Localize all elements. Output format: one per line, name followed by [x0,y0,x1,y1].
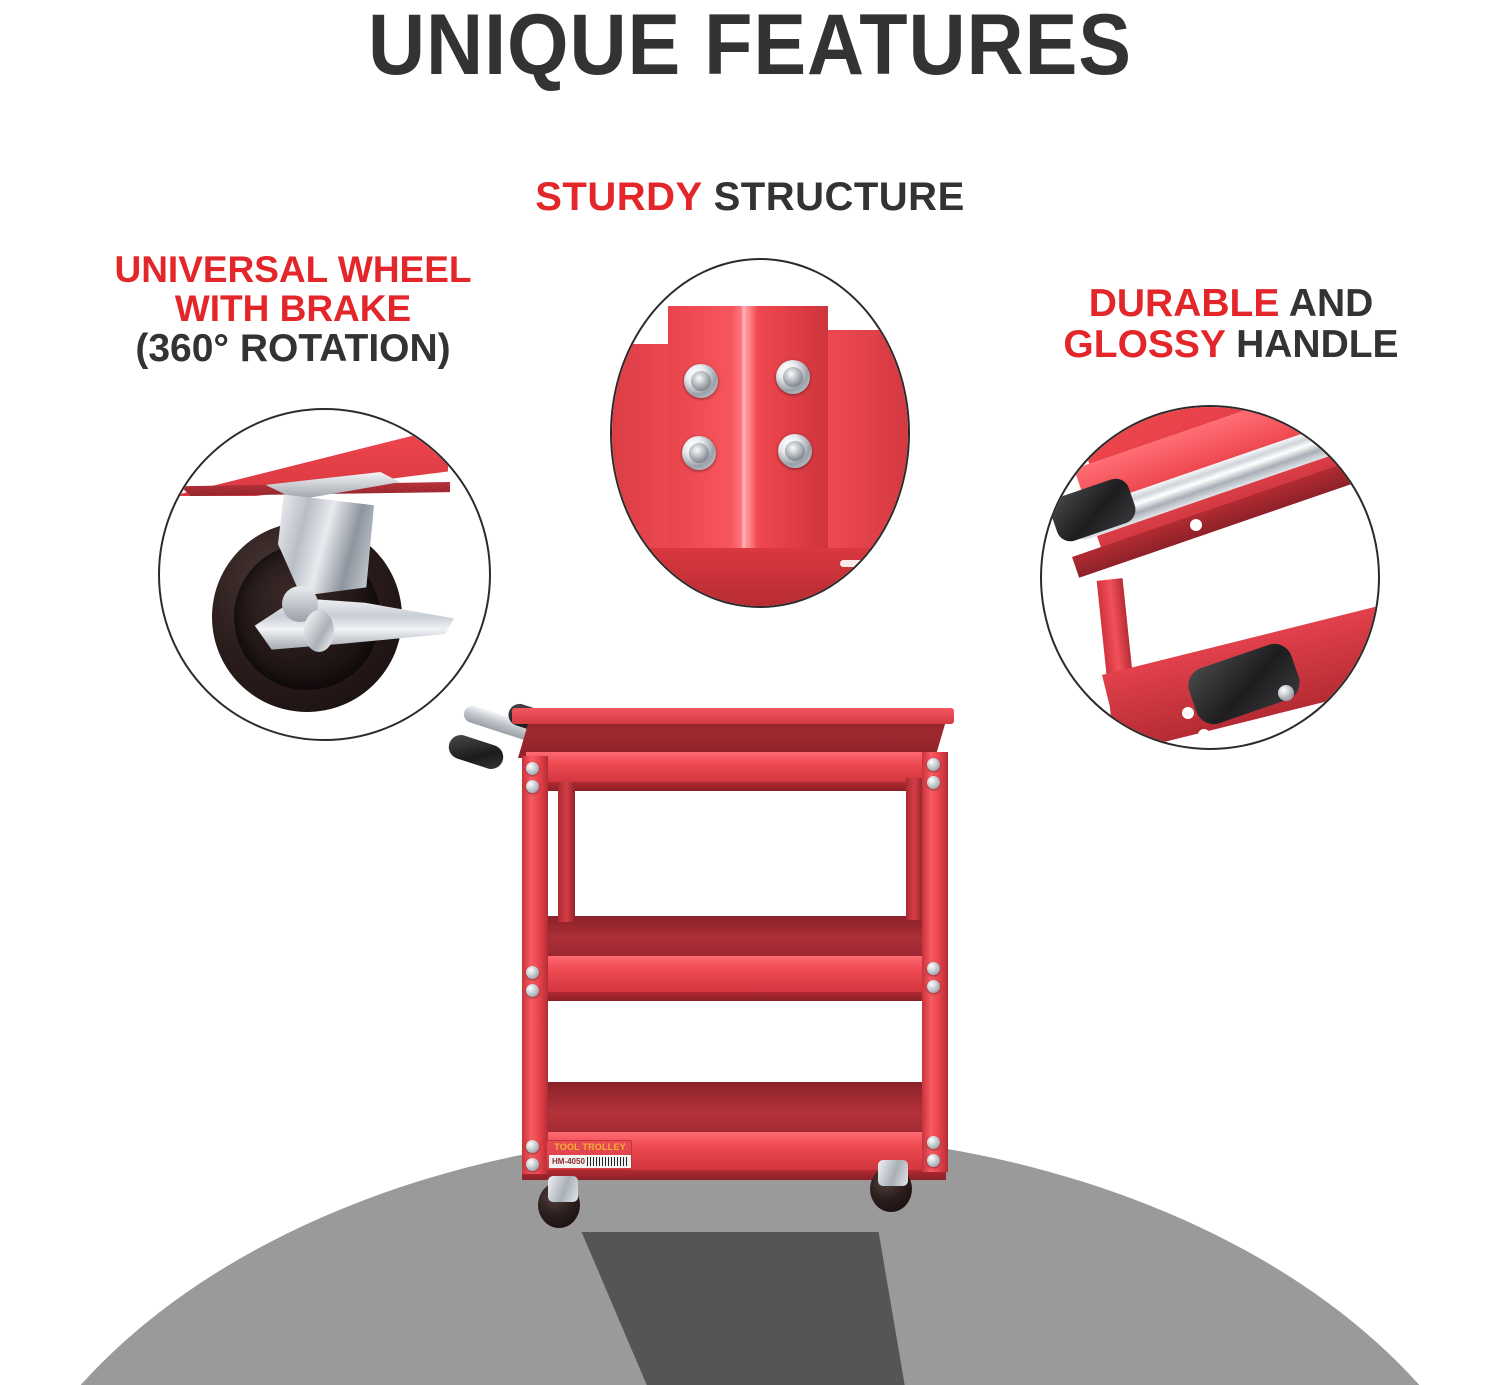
front-post-left [522,756,548,1174]
rivet [927,1136,940,1149]
mounting-hole-shape [1182,707,1194,719]
bolted-joint-illustration [612,260,908,606]
top-shelf-front-edge [526,782,942,791]
callout-wheel-line1: UNIVERSAL WHEEL [28,250,558,289]
page-title: UNIQUE FEATURES [60,2,1440,88]
rear-post-right [906,778,923,920]
bolt-head-icon [684,364,718,398]
callout-handle-durable: DURABLE [1089,282,1280,325]
caster-wheel-icon [158,408,491,741]
rivet [526,762,539,775]
caster-fork-right [878,1160,908,1186]
brake-pivot-shape [304,610,334,652]
product-label-strip: HM-4050 [549,1155,631,1168]
callout-handle-line2: GLOSSY HANDLE [985,324,1477,365]
product-tool-trolley: TOOL TROLLEY HM-4050 [470,700,990,1260]
right-panel-shape [824,330,910,560]
middle-shelf-front [524,956,944,994]
rivet [526,1140,539,1153]
rear-post-left [558,782,575,922]
mounting-hole-shape [1206,539,1218,551]
rivet [526,780,539,793]
handle-bar-icon [1040,405,1380,750]
shelf-slot-shape [638,568,664,575]
bolt-head-icon [682,436,716,470]
bolt-head-icon [778,434,812,468]
callout-sturdy-highlight: STURDY [535,175,702,219]
callout-wheel-line3: (360° ROTATION) [28,328,558,369]
rivet [927,962,940,975]
top-shelf-front [526,752,942,784]
product-model-number: HM-4050 [549,1157,585,1166]
caster-wheel-illustration [160,410,489,739]
rivet [927,1154,940,1167]
product-label-title: TOOL TROLLEY [551,1142,629,1152]
caster-fork-left [548,1176,578,1202]
callout-universal-wheel: UNIVERSAL WHEEL WITH BRAKE (360° ROTATIO… [28,250,558,370]
mounting-hole-shape [1198,729,1210,741]
rivet [927,776,940,789]
bolt-head-icon [776,360,810,394]
middle-shelf-inner [526,916,942,960]
rivet [927,758,940,771]
bolted-joint-icon [610,258,910,608]
mounting-hole-shape [1190,519,1202,531]
callout-sturdy-structure: STURDY STRUCTURE [0,176,1500,218]
callout-handle-glossy: GLOSSY [1063,323,1225,366]
bottom-shelf-inner [528,1082,940,1138]
callout-handle-line1: DURABLE AND [985,283,1477,324]
shelf-slot-shape [840,560,866,567]
cart-handle-grip [446,732,507,772]
rivet [526,984,539,997]
shelf-base-shape [610,548,910,608]
callout-handle-word: HANDLE [1225,323,1398,366]
handle-illustration [1042,407,1378,748]
callout-durable-handle: DURABLE AND GLOSSY HANDLE [985,283,1477,366]
middle-shelf-front-edge [524,992,944,1001]
callout-sturdy-rest: STRUCTURE [702,175,965,219]
rivet [526,966,539,979]
top-shelf-rim [512,708,954,724]
product-label-plate: TOOL TROLLEY HM-4050 [546,1140,632,1170]
rivet [927,980,940,993]
callout-handle-and: AND [1279,282,1373,325]
handle-screw-shape [1278,685,1294,701]
rivet [526,1158,539,1171]
barcode-icon [587,1157,629,1166]
callout-wheel-line2: WITH BRAKE [28,289,558,328]
